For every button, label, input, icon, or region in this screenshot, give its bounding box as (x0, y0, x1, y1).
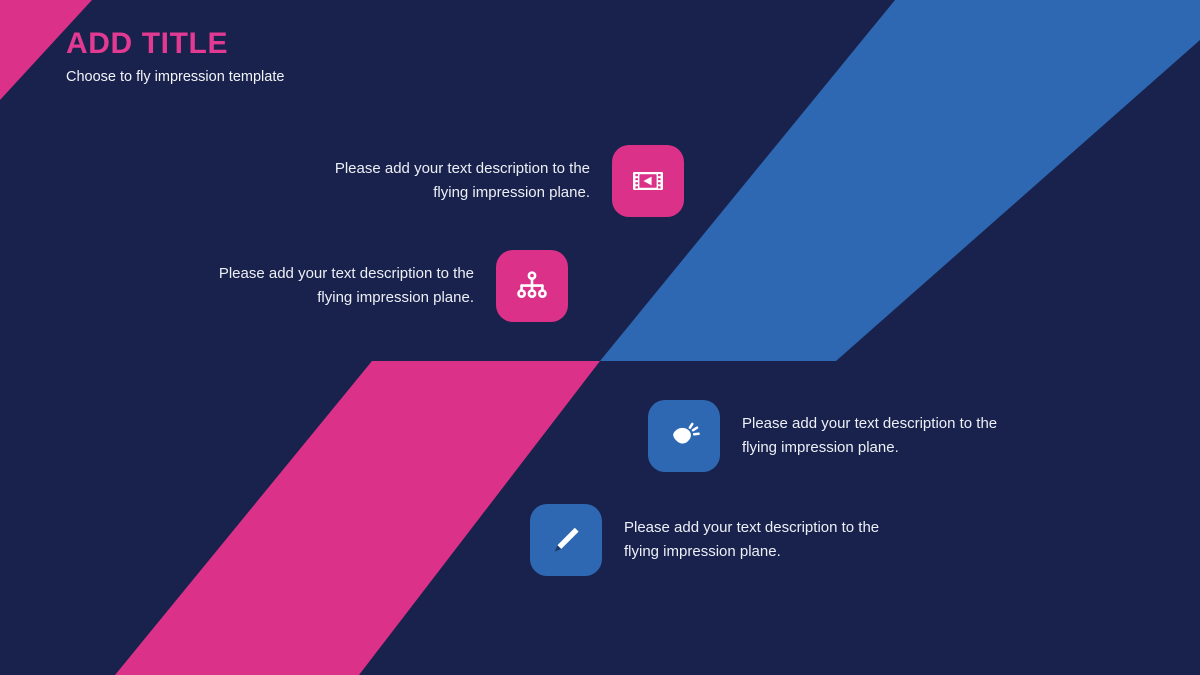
feature-item-2[interactable]: Please add your text description to the … (182, 250, 568, 322)
feature-3-text: Please add your text description to the … (742, 412, 1034, 459)
presentation-slide: ADD TITLE Choose to fly impression templ… (0, 0, 1200, 675)
feature-1-icon-tile[interactable] (612, 145, 684, 217)
feature-item-4[interactable]: Please add your text description to the … (530, 504, 916, 576)
click-tap-gesture-icon (665, 417, 703, 455)
feature-1-text: Please add your text description to the … (298, 157, 590, 204)
feature-4-icon-tile[interactable] (530, 504, 602, 576)
page-subtitle: Choose to fly impression template (66, 69, 284, 86)
film-strip-play-icon (629, 162, 667, 200)
feature-2-text: Please add your text description to the … (182, 262, 474, 309)
slide-header: ADD TITLE Choose to fly impression templ… (66, 26, 284, 87)
feature-item-3[interactable]: Please add your text description to the … (648, 400, 1034, 472)
feature-2-icon-tile[interactable] (496, 250, 568, 322)
diagonal-band-blue-shape (600, 0, 1200, 361)
diagonal-band-pink-shape (115, 361, 600, 675)
feature-3-icon-tile[interactable] (648, 400, 720, 472)
pencil-edit-icon (547, 521, 585, 559)
feature-4-text: Please add your text description to the … (624, 516, 916, 563)
hierarchy-sitemap-icon (513, 267, 551, 305)
page-title: ADD TITLE (66, 26, 284, 61)
feature-item-1[interactable]: Please add your text description to the … (298, 145, 684, 217)
